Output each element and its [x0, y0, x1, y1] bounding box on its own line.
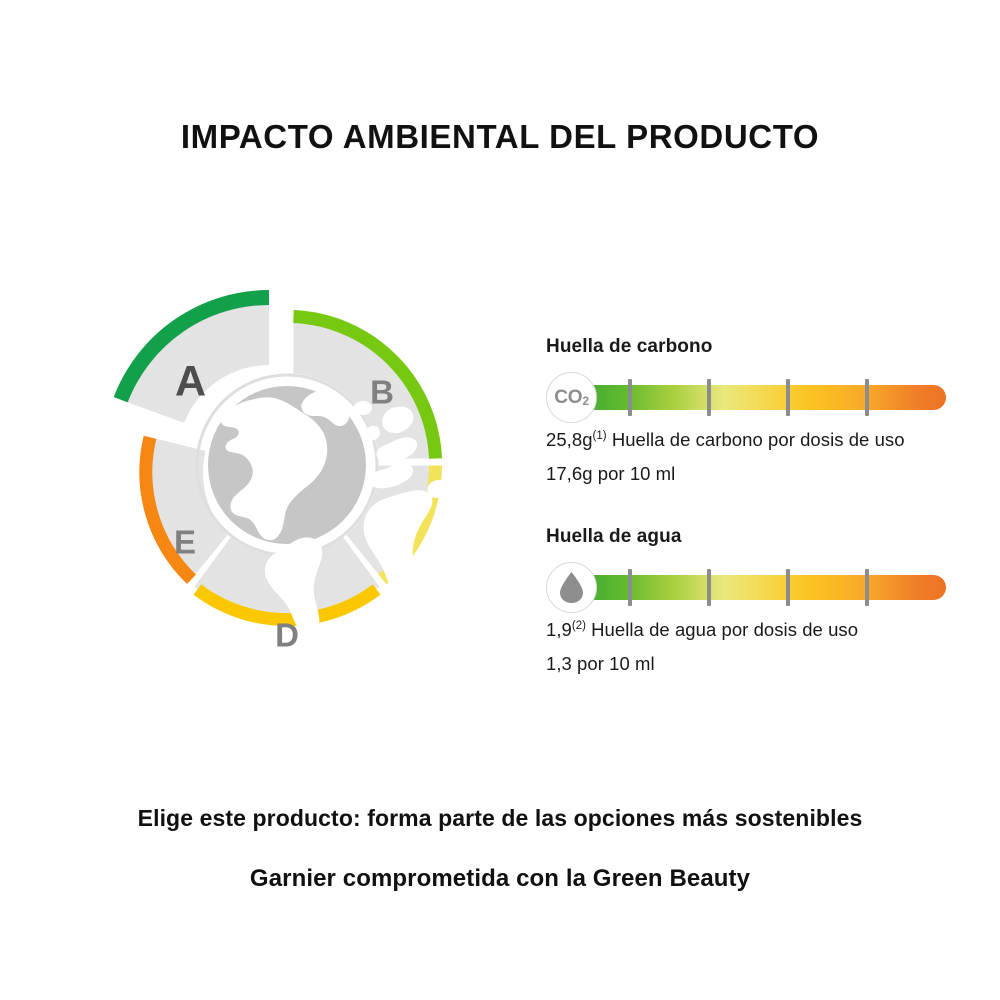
carbon-footprint-footnote: (1) [593, 430, 607, 442]
footprint-panel: Huella de carbono CO2 25,8g(1) Huella de… [546, 336, 966, 675]
carbon-footprint-value-line: 25,8g(1) Huella de carbono por dosis de … [546, 429, 966, 451]
water-scale-tick-1 [628, 569, 632, 606]
environmental-impact-grade-dial: B C D E [62, 240, 512, 690]
carbon-footprint-title: Huella de carbono [546, 336, 966, 358]
water-footprint-title: Huella de agua [546, 526, 966, 548]
carbon-footprint-description: Huella de carbono por dosis de uso [612, 429, 905, 450]
carbon-scale-tick-4 [865, 379, 869, 416]
carbon-footprint-scale: CO2 [546, 370, 966, 424]
co2-icon-label: CO2 [554, 388, 589, 407]
water-scale-tick-3 [786, 569, 790, 606]
co2-icon: CO2 [546, 372, 597, 423]
water-footprint-metric: Huella de agua 1,9(2) Huella de agua por… [546, 526, 966, 675]
carbon-scale-tick-2 [707, 379, 711, 416]
grade-letter-b: B [370, 374, 394, 411]
carbon-footprint-value: 25,8g [546, 429, 593, 450]
water-footprint-description: Huella de agua por dosis de uso [591, 619, 858, 640]
water-footprint-scale [546, 560, 966, 614]
carbon-scale-tick-3 [786, 379, 790, 416]
carbon-scale-tick-1 [628, 379, 632, 416]
carbon-footprint-second-line: 17,6g por 10 ml [546, 463, 966, 485]
footer-brand-claim: Garnier comprometida con la Green Beauty [0, 865, 1000, 893]
water-scale-gradient-bar [550, 575, 946, 600]
grade-letter-a: A [175, 358, 206, 406]
water-footprint-second-line: 1,3 por 10 ml [546, 653, 966, 675]
water-scale-tick-2 [707, 569, 711, 606]
water-footprint-value-line: 1,9(2) Huella de agua por dosis de uso [546, 619, 966, 641]
carbon-scale-gradient-bar [550, 385, 946, 410]
page-title: IMPACTO AMBIENTAL DEL PRODUCTO [0, 118, 1000, 156]
water-drop-icon [546, 562, 597, 613]
water-drop-glyph [558, 571, 585, 604]
footer-tagline: Elige este producto: forma parte de las … [0, 805, 1000, 832]
carbon-footprint-metric: Huella de carbono CO2 25,8g(1) Huella de… [546, 336, 966, 485]
environmental-impact-label: IMPACTO AMBIENTAL DEL PRODUCTO B C D [0, 0, 1000, 1000]
water-scale-tick-4 [865, 569, 869, 606]
water-footprint-footnote: (2) [572, 620, 586, 632]
water-footprint-value: 1,9 [546, 619, 572, 640]
grade-letter-e: E [174, 524, 196, 561]
